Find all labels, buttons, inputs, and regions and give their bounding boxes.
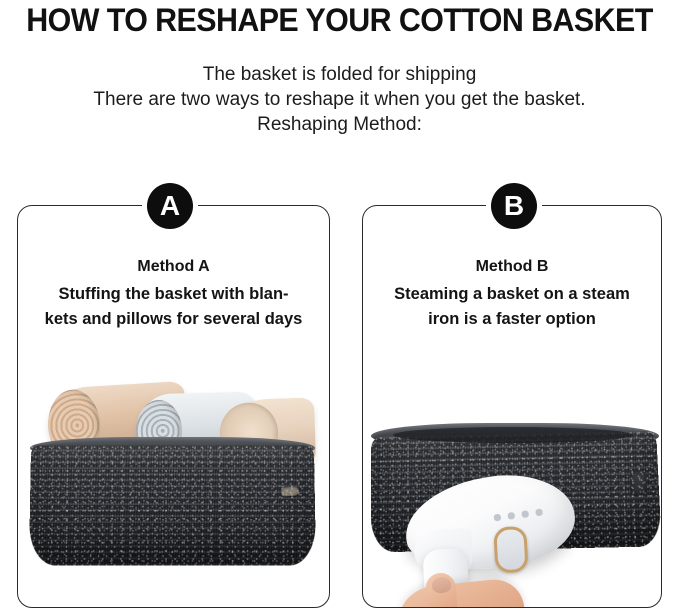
steamer-power-button: [493, 526, 528, 574]
method-a-heading: Method A: [18, 256, 329, 278]
method-card-b: B Method B Steaming a basket on a steam …: [362, 205, 662, 608]
subtitle-block: The basket is folded for shipping There …: [0, 62, 679, 137]
method-badge-a: A: [147, 183, 193, 229]
steamer-vent-dots-icon: [490, 508, 544, 522]
basket-a-handle: [280, 486, 299, 496]
method-b-heading: Method B: [363, 256, 661, 278]
method-b-description: Steaming a basket on a steam iron is a f…: [363, 282, 661, 332]
basket-b-handle: [630, 470, 647, 496]
method-b-description-line-2: iron is a faster option: [363, 307, 661, 332]
method-a-photo: [18, 337, 329, 607]
method-b-photo: [363, 337, 661, 607]
method-a-description-line-2: kets and pillows for several days: [18, 307, 329, 332]
method-a-description-line-1: Stuffing the basket with blan-: [18, 282, 329, 307]
basket-b-interior: [393, 427, 633, 443]
subtitle-line-1: The basket is folded for shipping: [0, 62, 679, 87]
method-card-a: A Method A Stuffing the basket with blan…: [17, 205, 330, 608]
subtitle-line-3: Reshaping Method:: [0, 112, 679, 137]
method-a-description: Stuffing the basket with blan- kets and …: [18, 282, 329, 332]
method-badge-b: B: [491, 183, 537, 229]
subtitle-line-2: There are two ways to reshape it when yo…: [0, 87, 679, 112]
basket-a-body: [29, 446, 316, 566]
method-b-description-line-1: Steaming a basket on a steam: [363, 282, 661, 307]
page-title: HOW TO RESHAPE YOUR COTTON BASKET: [17, 0, 662, 40]
